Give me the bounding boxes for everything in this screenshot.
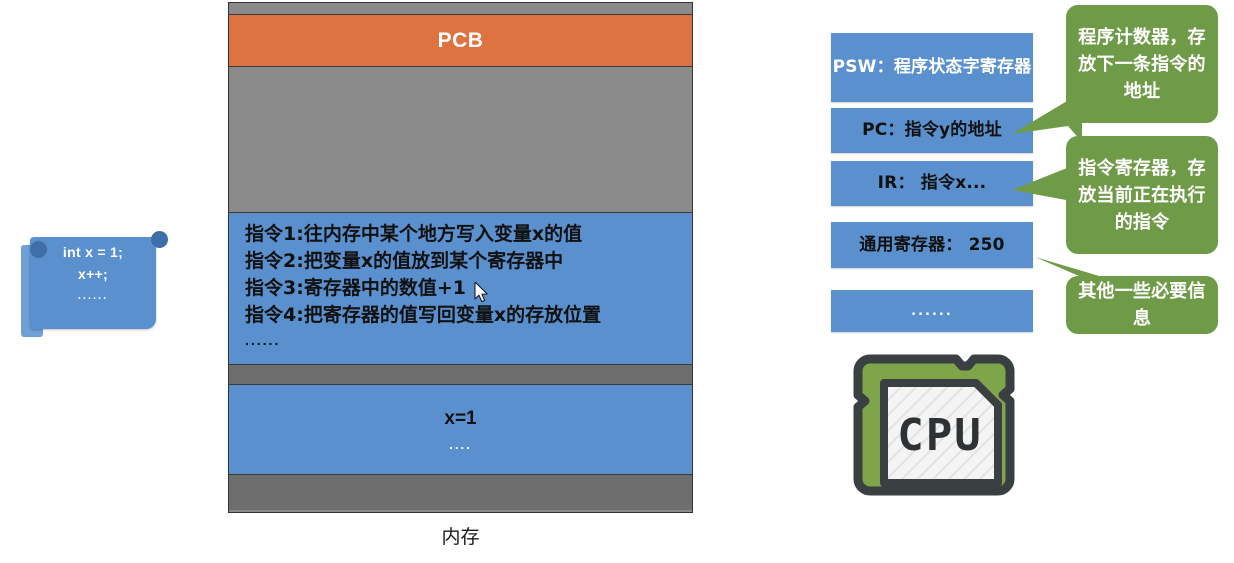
register-general-purpose: 通用寄存器： 250 xyxy=(831,222,1033,268)
code-line-2: x++; xyxy=(30,263,156,285)
program-source-scroll: int x = 1; x++; ...... xyxy=(18,229,168,337)
scroll-code-text: int x = 1; x++; ...... xyxy=(30,241,156,307)
register-ir-label: IR： 指令x... xyxy=(878,171,987,196)
pcb-label: PCB xyxy=(438,29,484,53)
cpu-chip-icon: CPU xyxy=(848,345,1033,520)
code-ellipsis: ...... xyxy=(30,285,156,307)
memory-separator-band xyxy=(229,365,692,385)
register-pc-label: PC：指令y的地址 xyxy=(862,118,1002,143)
memory-pcb-band: PCB xyxy=(229,15,692,67)
instruction-ellipsis: ...... xyxy=(245,329,692,351)
ir-callout-text: 指令寄存器，存放当前正在执行的指令 xyxy=(1066,153,1218,238)
register-general-purpose-label: 通用寄存器： 250 xyxy=(859,233,1004,258)
other-callout: 其他一些必要信息 xyxy=(1066,276,1218,334)
other-callout-text: 其他一些必要信息 xyxy=(1066,276,1218,334)
memory-gray-region xyxy=(229,67,692,213)
code-line-1: int x = 1; xyxy=(30,241,156,263)
memory-top-gray-band xyxy=(229,3,692,15)
register-more: ...... xyxy=(831,290,1033,332)
instruction-line: 指令3:寄存器中的数值+1 xyxy=(245,275,692,302)
data-ellipsis: .... xyxy=(449,434,471,456)
memory-data-region: x=1 .... xyxy=(229,385,692,475)
pc-callout: 程序计数器，存放下一条指令的地址 xyxy=(1066,5,1218,123)
register-more-label: ...... xyxy=(911,299,953,324)
register-pc: PC：指令y的地址 xyxy=(831,108,1033,153)
memory-instruction-region: 指令1:往内存中某个地方写入变量x的值 指令2:把变量x的值放到某个寄存器中 指… xyxy=(229,213,692,365)
register-psw-label: PSW：程序状态字寄存器 xyxy=(833,55,1032,80)
cpu-chip-text: CPU xyxy=(897,410,982,461)
instruction-line: 指令1:往内存中某个地方写入变量x的值 xyxy=(245,221,692,248)
instruction-line: 指令2:把变量x的值放到某个寄存器中 xyxy=(245,248,692,275)
instruction-line: 指令4:把寄存器的值写回变量x的存放位置 xyxy=(245,302,692,329)
pc-callout-text: 程序计数器，存放下一条指令的地址 xyxy=(1066,22,1218,107)
memory-caption: 内存 xyxy=(228,522,693,549)
register-psw: PSW：程序状态字寄存器 xyxy=(831,33,1033,102)
memory-bottom-gray-band xyxy=(229,475,692,510)
mouse-cursor-icon xyxy=(474,282,490,304)
ir-callout: 指令寄存器，存放当前正在执行的指令 xyxy=(1066,136,1218,254)
memory-block: PCB 指令1:往内存中某个地方写入变量x的值 指令2:把变量x的值放到某个寄存… xyxy=(228,2,693,513)
register-ir: IR： 指令x... xyxy=(831,161,1033,206)
variable-value: x=1 xyxy=(444,404,476,434)
